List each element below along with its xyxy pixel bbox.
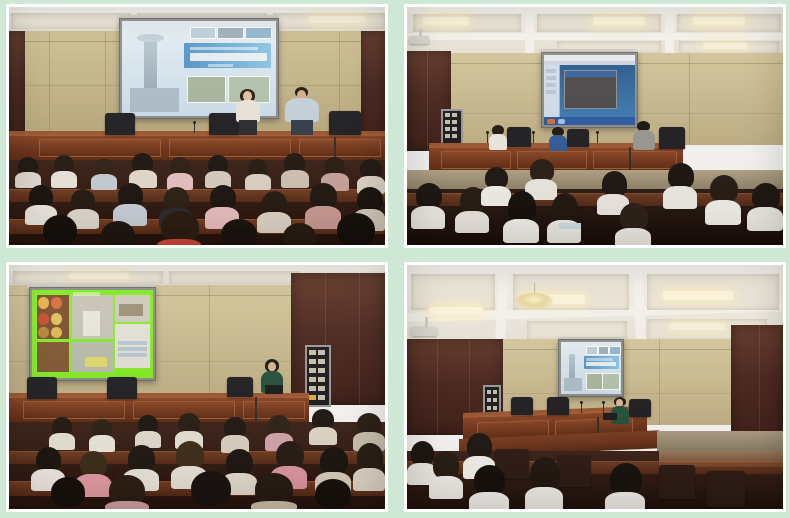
chair [107, 377, 137, 399]
chair [511, 397, 533, 415]
slide-blue [561, 342, 621, 394]
photo-bottom-left[interactable] [6, 262, 388, 512]
photo-bottom-right[interactable] [404, 262, 786, 512]
chair [567, 129, 589, 147]
chair [27, 377, 57, 399]
projection-screen [541, 52, 638, 128]
chair [629, 399, 651, 417]
laptop [265, 385, 283, 394]
chair [105, 113, 135, 135]
slide-desktop [544, 55, 635, 125]
presenter-woman [235, 89, 261, 135]
photo-top-left-image [9, 7, 385, 245]
presenter-left [489, 125, 507, 149]
slide-green [32, 290, 153, 378]
presenter-man [285, 87, 319, 135]
chair [227, 377, 253, 397]
chair [547, 397, 569, 415]
projector [411, 327, 437, 336]
chair [329, 111, 361, 135]
photo-bottom-right-image [407, 265, 783, 509]
projection-screen [29, 287, 156, 381]
presenter-right [633, 121, 655, 151]
notice-board [441, 109, 463, 145]
laptop [603, 413, 617, 420]
chair [659, 127, 685, 149]
photo-top-left[interactable] [6, 4, 388, 248]
chandelier [515, 283, 553, 309]
projection-screen [558, 339, 624, 397]
presenter-center [549, 127, 567, 151]
photo-bottom-left-image [9, 265, 385, 509]
photo-top-right[interactable] [404, 4, 786, 248]
chair [507, 127, 531, 147]
photo-top-right-image [407, 7, 783, 245]
projector [409, 36, 429, 44]
photo-collage [0, 0, 790, 518]
